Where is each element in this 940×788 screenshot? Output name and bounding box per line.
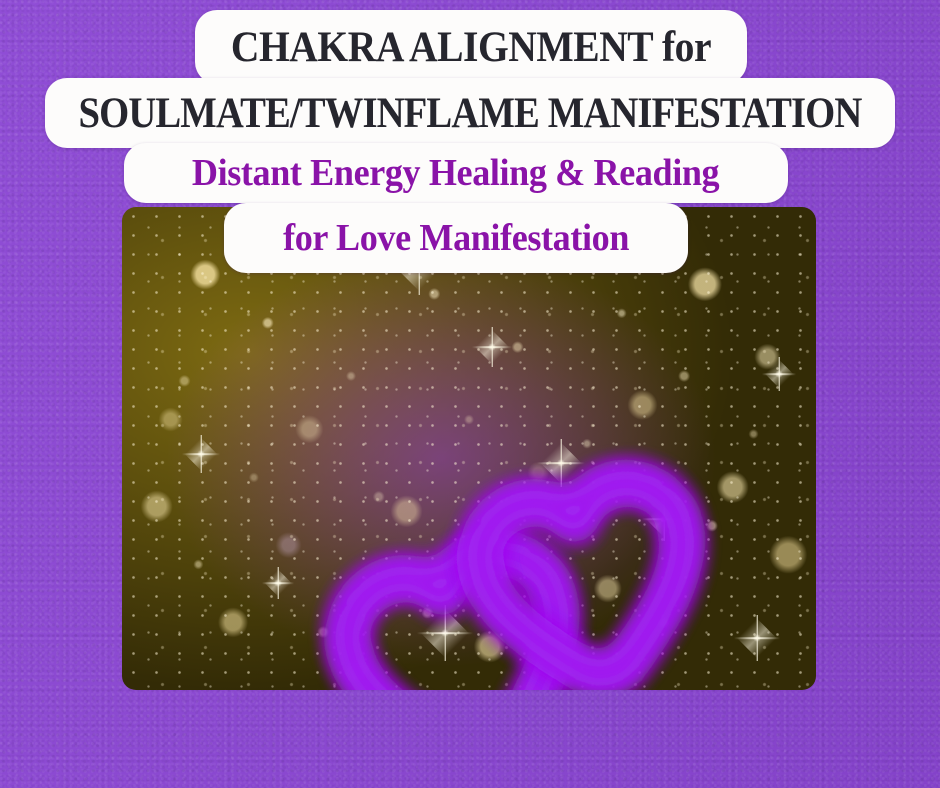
bokeh-medium-dots — [122, 207, 816, 690]
sparkle-star-icon — [417, 605, 473, 661]
neon-hearts-graphic — [122, 207, 816, 690]
title-banner-line-1: CHAKRA ALIGNMENT for — [195, 10, 747, 84]
sparkle-star-icon — [762, 357, 796, 391]
sparkle-star-icon — [472, 327, 512, 367]
poster-canvas: CHAKRA ALIGNMENT for SOULMATE/TWINFLAME … — [0, 0, 940, 788]
sparkle-star-icon — [734, 615, 780, 661]
sparkle-star-icon — [182, 435, 220, 473]
subtitle-banner-line-1: Distant Energy Healing & Reading — [124, 143, 788, 203]
page-title-line-2: SOULMATE/TWINFLAME MANIFESTATION — [79, 89, 862, 138]
sparkle-star-icon — [262, 567, 294, 599]
subtitle-banner-line-2: for Love Manifestation — [224, 203, 688, 273]
subtitle-line-2: for Love Manifestation — [283, 216, 629, 260]
bokeh-starfield-photo — [122, 207, 816, 690]
page-title-line-1: CHAKRA ALIGNMENT for — [231, 23, 711, 72]
sparkle-star-icon — [537, 439, 585, 487]
subtitle-line-1: Distant Energy Healing & Reading — [192, 151, 719, 195]
sparkle-star-icon — [642, 497, 686, 541]
bokeh-fine-speckle — [122, 207, 816, 690]
bokeh-large-circles — [122, 207, 816, 690]
title-banner-line-2: SOULMATE/TWINFLAME MANIFESTATION — [45, 78, 895, 148]
